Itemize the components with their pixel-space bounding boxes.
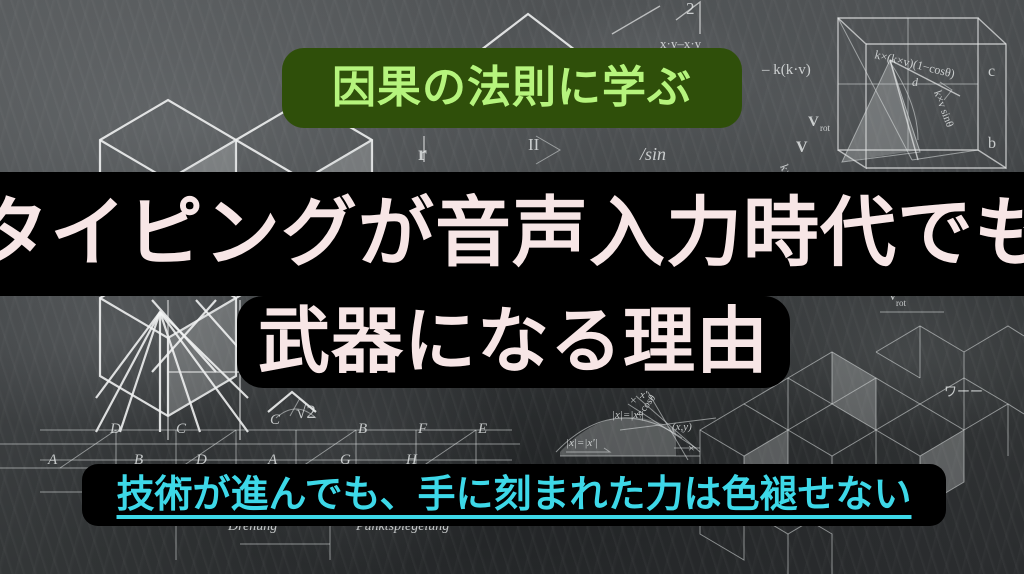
svg-text:c: c: [988, 63, 995, 80]
svg-text:E: E: [477, 421, 487, 437]
subtitle-band: 技術が進んでも、手に刻まれた力は色褪せない: [82, 464, 946, 526]
svg-text:/sin: /sin: [639, 144, 666, 164]
svg-text:rot: rot: [896, 298, 906, 308]
svg-text:– k(k·v): – k(k·v): [761, 62, 811, 78]
svg-text:|x|=|x'|: |x|=|x'|: [612, 409, 644, 421]
svg-text:A: A: [47, 452, 58, 468]
svg-text:d: d: [912, 75, 919, 89]
svg-text:r: r: [418, 143, 427, 165]
svg-text:C: C: [270, 412, 281, 428]
svg-text:V: V: [808, 114, 819, 130]
svg-text:2: 2: [686, 0, 695, 18]
svg-text:ワーー: ワーー: [944, 384, 983, 399]
svg-text:×: ×: [630, 393, 637, 407]
kicker-badge: 因果の法則に学ぶ: [282, 48, 742, 128]
svg-text:B: B: [358, 421, 367, 437]
vector-rotation-diagram: k×(k×v)(1−cosθ) k×v sinθ V rot k×v c b d: [777, 18, 1006, 185]
svg-text:C: C: [176, 421, 187, 437]
svg-text:II: II: [528, 135, 540, 154]
svg-text:√2: √2: [296, 402, 316, 423]
svg-text:x': x': [639, 389, 648, 401]
coordinate-rotation-sketch: |x|=|x'| x cosθ (x,y) x' × ×: [556, 389, 716, 460]
subtitle-text: 技術が進んでも、手に刻まれた力は色褪せない: [117, 476, 912, 514]
kicker-badge-label: 因果の法則に学ぶ: [332, 66, 692, 110]
svg-text:×: ×: [688, 441, 695, 455]
svg-text:k×v sinθ: k×v sinθ: [931, 89, 955, 129]
thumbnail-canvas: 2 r II /sin x·y–x·y – k(k·v) V: [0, 0, 1024, 574]
title-line2-text: 武器になる理由: [258, 306, 769, 378]
svg-text:(x,y): (x,y): [672, 421, 692, 433]
svg-text:|x|=|x'|: |x|=|x'|: [566, 437, 598, 449]
title-band-line2: 武器になる理由: [237, 296, 790, 388]
title-band-line1: タイピングが音声入力時代でも: [0, 172, 1024, 296]
title-line1-text: タイピングが音声入力時代でも: [0, 196, 1024, 272]
svg-text:rot: rot: [820, 123, 830, 133]
svg-text:F: F: [417, 421, 428, 437]
svg-text:V: V: [796, 139, 808, 156]
svg-text:b: b: [988, 135, 996, 152]
svg-text:D: D: [109, 421, 121, 437]
